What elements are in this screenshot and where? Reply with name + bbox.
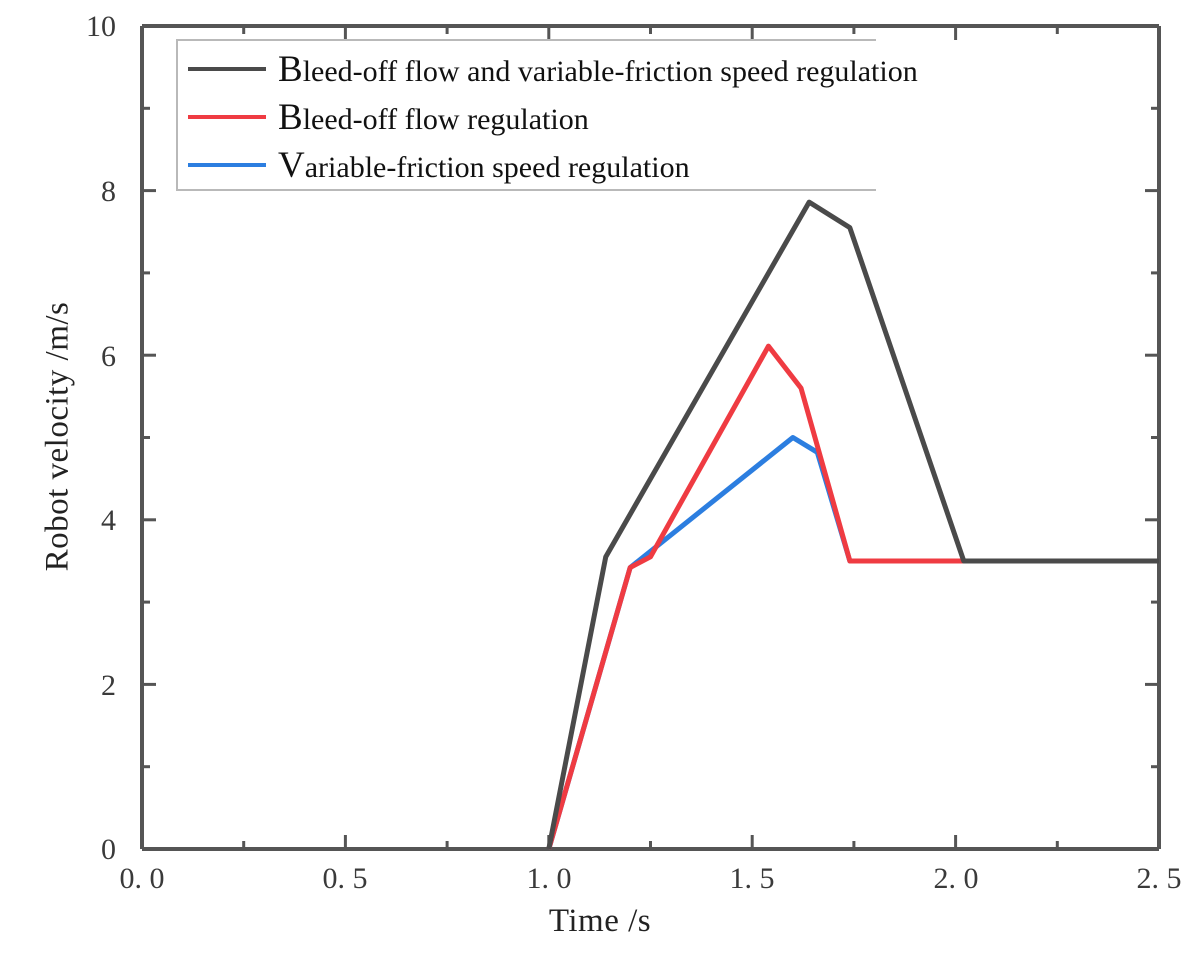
legend-swatch-line-icon bbox=[188, 115, 266, 119]
x-tick-label: 0. 0 bbox=[82, 862, 202, 896]
legend-item-2: Variable-friction speed regulation bbox=[178, 141, 690, 189]
legend-label-rest: leed-off flow and variable-friction spee… bbox=[303, 55, 918, 88]
data-series bbox=[549, 202, 1159, 849]
chart-figure: 10 8 6 4 2 0 0. 0 0. 5 1. 0 1. 5 2. 0 2.… bbox=[0, 0, 1200, 960]
legend: Bleed-off flow and variable-friction spe… bbox=[176, 39, 876, 191]
legend-item-1: Bleed-off flow regulation bbox=[178, 93, 589, 141]
legend-label-rest: ariable-friction speed regulation bbox=[305, 151, 690, 184]
legend-swatch-line-icon bbox=[188, 163, 266, 167]
x-tick-label: 2. 0 bbox=[896, 862, 1016, 896]
legend-item-0: Bleed-off flow and variable-friction spe… bbox=[178, 45, 918, 93]
y-axis-label: Robot velocity /m/s bbox=[40, 117, 77, 757]
legend-label-initial: B bbox=[278, 49, 303, 90]
legend-label-initial: V bbox=[278, 145, 305, 186]
x-tick-label: 2. 5 bbox=[1099, 862, 1200, 896]
legend-label: Bleed-off flow regulation bbox=[278, 99, 589, 136]
x-axis-label: Time /s bbox=[0, 903, 1200, 940]
x-tick-label: 1. 0 bbox=[489, 862, 609, 896]
series-line bbox=[549, 202, 1159, 849]
legend-label: Bleed-off flow and variable-friction spe… bbox=[278, 51, 918, 88]
legend-label-rest: leed-off flow regulation bbox=[303, 103, 589, 136]
legend-swatch-line-icon bbox=[188, 67, 266, 71]
legend-label: Variable-friction speed regulation bbox=[278, 147, 690, 184]
x-tick-label: 0. 5 bbox=[285, 862, 405, 896]
y-tick-label: 10 bbox=[56, 10, 116, 44]
legend-label-initial: B bbox=[278, 97, 303, 138]
series-line bbox=[549, 346, 1159, 849]
x-tick-label: 1. 5 bbox=[692, 862, 812, 896]
